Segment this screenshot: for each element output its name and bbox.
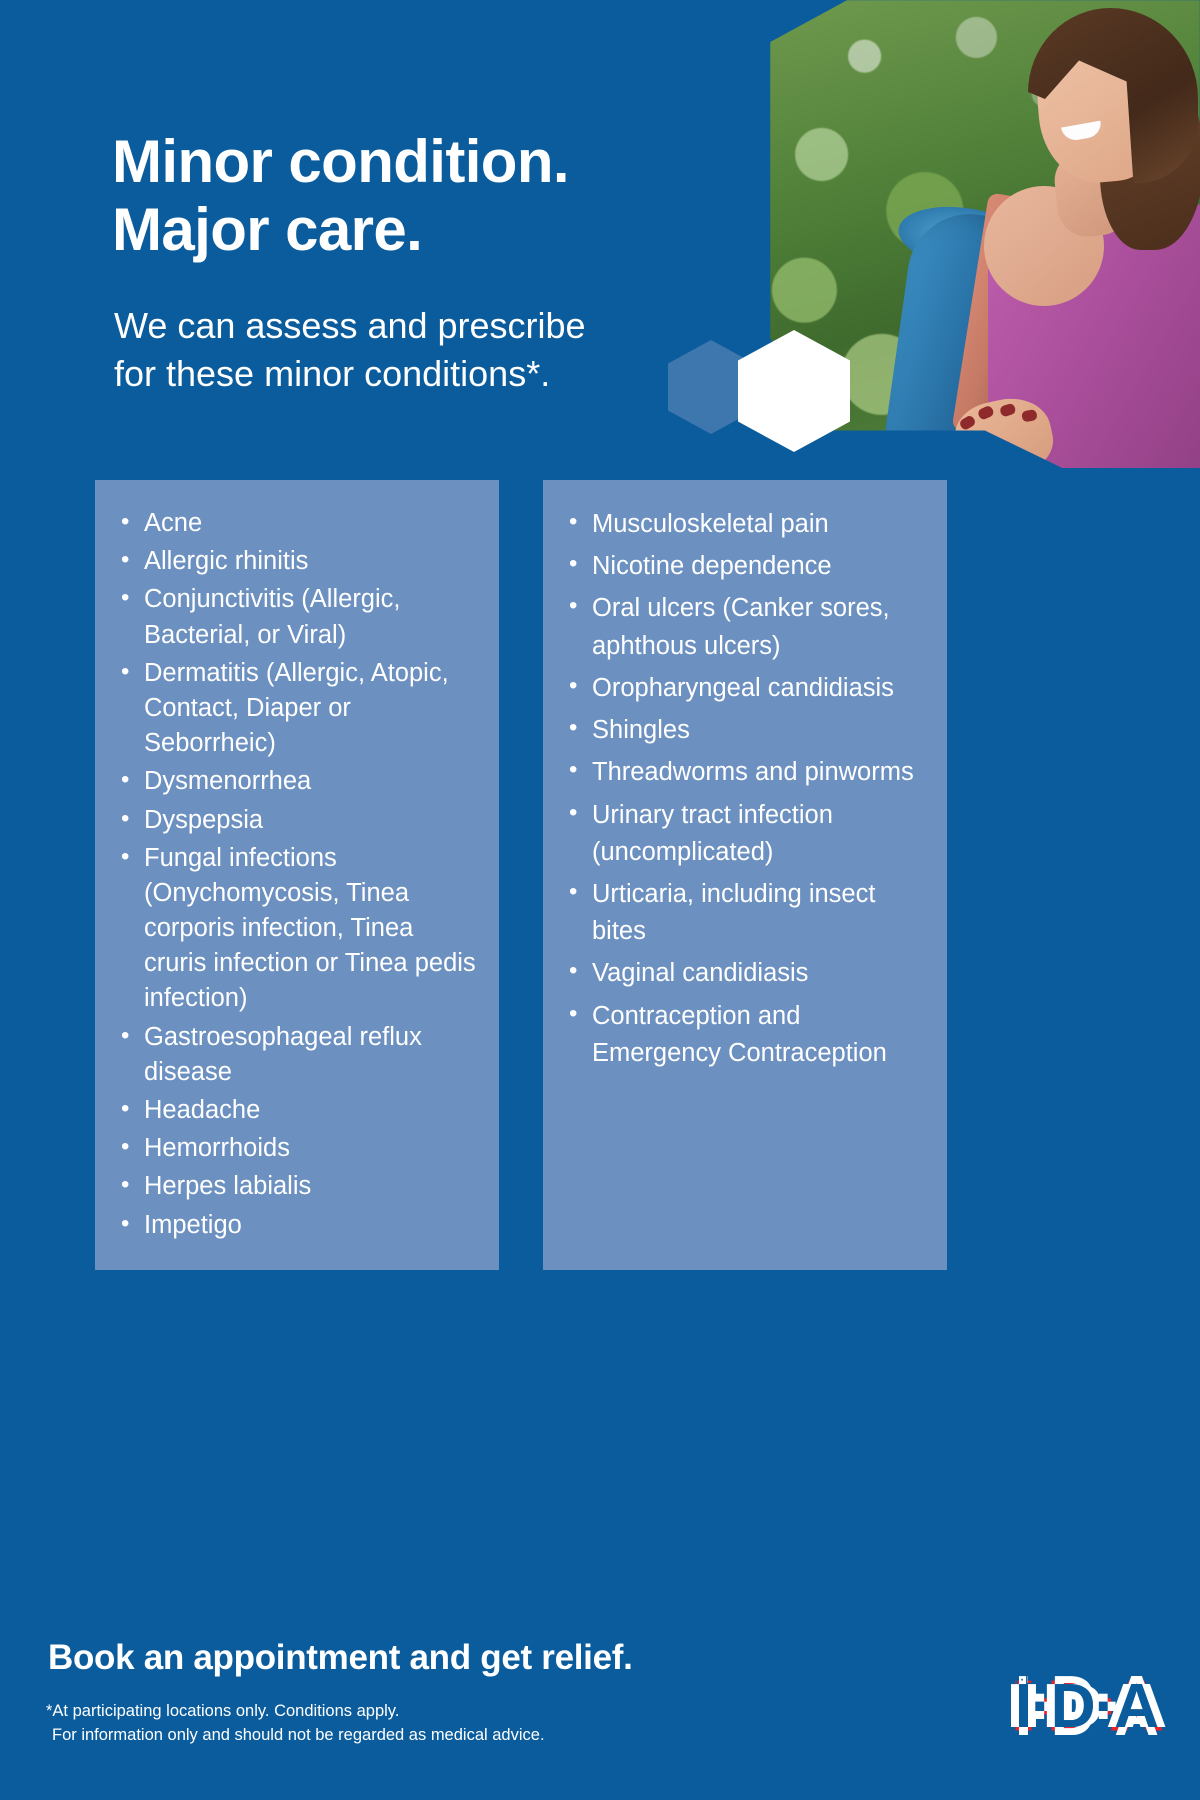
list-item: Hemorrhoids [117, 1131, 477, 1166]
conditions-panel-left: Acne Allergic rhinitis Conjunctivitis (A… [95, 480, 499, 1270]
cta-text: Book an appointment and get relief. [48, 1638, 633, 1678]
ida-logo-fill: I·D·A [1015, 1671, 1052, 1689]
poster-canvas: Minor condition. Major care. We can asse… [0, 0, 1200, 1800]
fingernail [958, 414, 976, 431]
ida-logo-wordmark: I·D·A I·D·A [1015, 1671, 1158, 1742]
list-item: Oral ulcers (Canker sores, aphthous ulce… [565, 590, 925, 664]
ida-logo: I·D·A I·D·A [1015, 1672, 1158, 1740]
fingernail [1021, 409, 1038, 422]
list-item: Contraception and Emergency Contraceptio… [565, 998, 925, 1072]
list-item: Impetigo [117, 1208, 477, 1243]
subtitle-line-1: We can assess and prescribe [114, 302, 694, 350]
list-item: Oropharyngeal candidiasis [565, 670, 925, 707]
list-item: Musculoskeletal pain [565, 506, 925, 543]
footnote-line-2: For information only and should not be r… [46, 1724, 545, 1748]
footnote-line-1: *At participating locations only. Condit… [46, 1700, 545, 1724]
headline-line-2: Major care. [112, 196, 712, 264]
list-item: Vaginal candidiasis [565, 955, 925, 992]
list-item: Gastroesophageal reflux disease [117, 1020, 477, 1090]
fingernail [977, 405, 995, 421]
list-item: Conjunctivitis (Allergic, Bacterial, or … [117, 582, 477, 652]
list-item: Allergic rhinitis [117, 544, 477, 579]
list-item: Urinary tract infection (uncomplicated) [565, 797, 925, 871]
page-title: Minor condition. Major care. [112, 128, 712, 264]
conditions-columns: Acne Allergic rhinitis Conjunctivitis (A… [95, 480, 1105, 1270]
conditions-list-left: Acne Allergic rhinitis Conjunctivitis (A… [117, 506, 477, 1243]
list-item: Dermatitis (Allergic, Atopic, Contact, D… [117, 656, 477, 762]
list-item: Acne [117, 506, 477, 541]
list-item: Urticaria, including insect bites [565, 876, 925, 950]
conditions-panel-right: Musculoskeletal pain Nicotine dependence… [543, 480, 947, 1270]
list-item: Shingles [565, 712, 925, 749]
footnote: *At participating locations only. Condit… [46, 1700, 545, 1748]
list-item: Threadworms and pinworms [565, 754, 925, 791]
list-item: Nicotine dependence [565, 548, 925, 585]
list-item: Herpes labialis [117, 1169, 477, 1204]
conditions-list-right: Musculoskeletal pain Nicotine dependence… [565, 506, 925, 1072]
subtitle-line-2: for these minor conditions*. [114, 350, 694, 398]
subtitle: We can assess and prescribe for these mi… [114, 302, 694, 398]
list-item: Fungal infections (Onychomycosis, Tinea … [117, 841, 477, 1017]
headline-line-1: Minor condition. [112, 128, 712, 196]
list-item: Dysmenorrhea [117, 764, 477, 799]
fingernail [999, 403, 1017, 418]
list-item: Headache [117, 1093, 477, 1128]
list-item: Dyspepsia [117, 803, 477, 838]
